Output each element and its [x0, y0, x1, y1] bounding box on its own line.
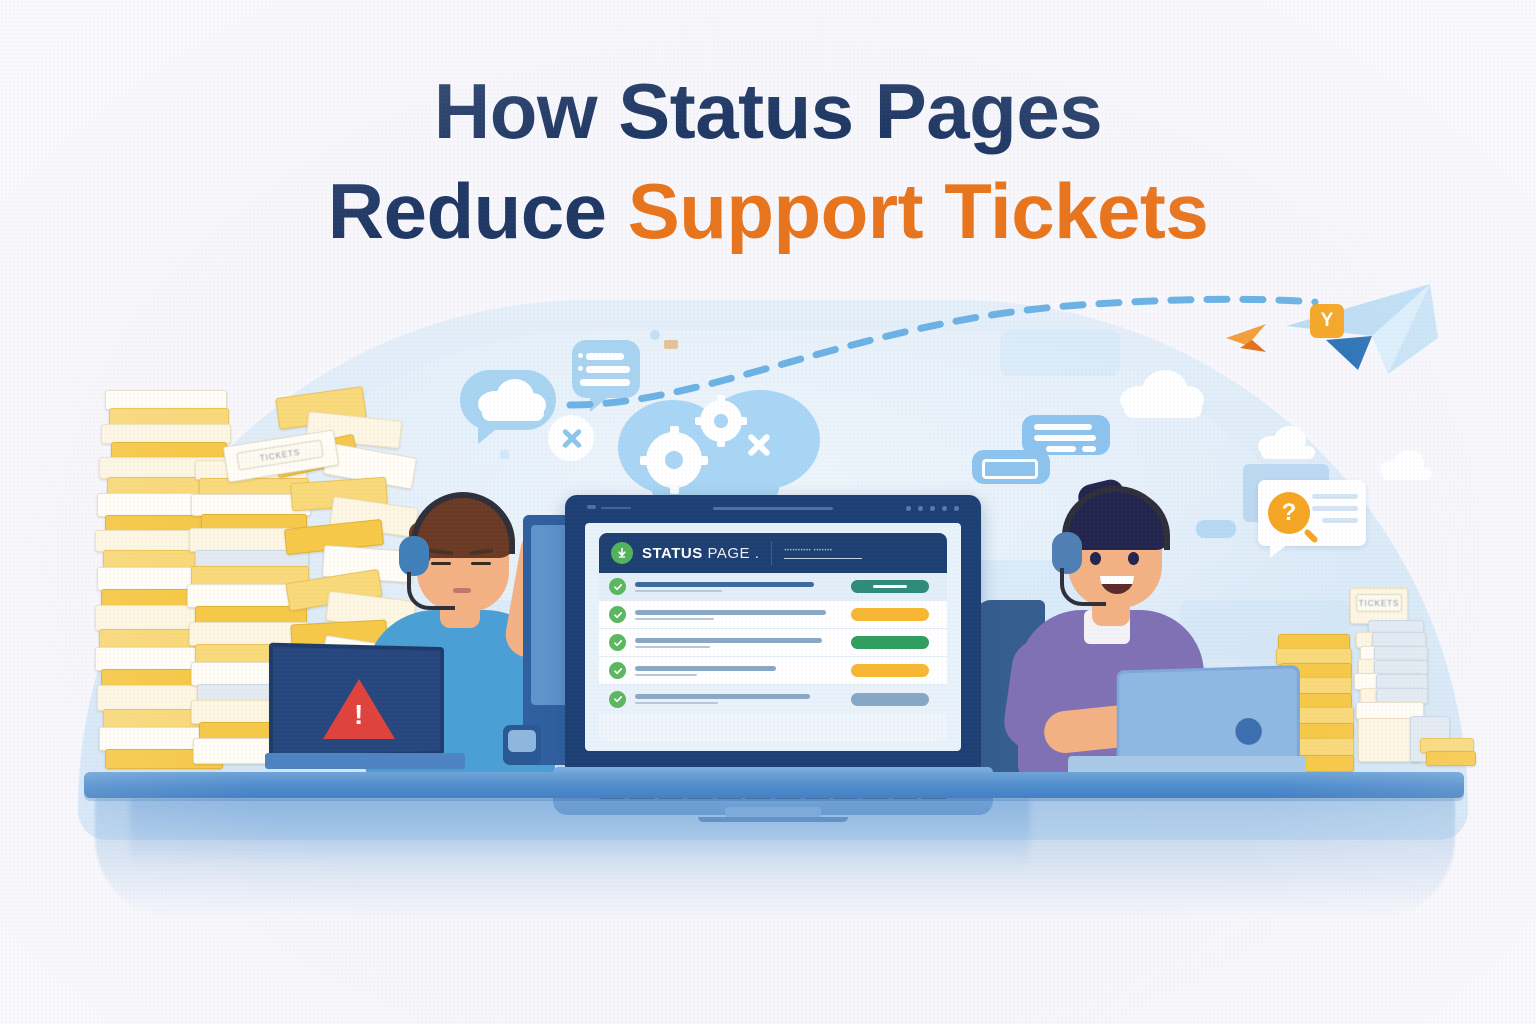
status-row-title-bar	[635, 582, 814, 587]
status-page-meta: •••••••••• •••••••	[784, 548, 935, 559]
bezel-mark-left	[587, 505, 596, 509]
status-row[interactable]	[599, 573, 947, 601]
status-badge	[851, 636, 929, 649]
magnifier-question-icon: ?	[1268, 492, 1310, 534]
gear-icon-large	[646, 432, 702, 488]
status-page-header: STATUS PAGE . •••••••••• •••••••	[599, 533, 947, 573]
left-laptop-base	[265, 753, 465, 769]
status-row-text	[635, 638, 843, 648]
right-laptop-logo	[1235, 718, 1261, 745]
check-circle-icon	[609, 662, 626, 679]
status-row-sub-bar	[635, 674, 697, 676]
ticket-sheet	[1426, 751, 1476, 766]
status-badge	[851, 664, 929, 677]
faq-line-3	[1322, 518, 1358, 523]
status-row-pill-cell	[843, 608, 937, 621]
chat-line-4	[1082, 446, 1096, 452]
paper-plane-badge: Y	[1310, 304, 1344, 338]
status-row-title-bar	[635, 666, 776, 671]
bezel-dot	[918, 506, 923, 511]
chat-line-2	[1034, 435, 1096, 441]
agent-right-eye-left	[1090, 552, 1101, 565]
status-badge	[851, 608, 929, 621]
status-row-title-bar	[635, 638, 822, 643]
chat-bubble-top	[1022, 415, 1110, 455]
desk-surface	[84, 772, 1464, 798]
status-row[interactable]	[599, 629, 947, 657]
bezel-dot	[954, 506, 959, 511]
agent-left-mouth	[453, 588, 471, 593]
status-row-pill-cell	[843, 693, 937, 706]
status-row[interactable]	[599, 685, 947, 713]
x-mark-icon-2	[745, 432, 771, 458]
status-row-text	[635, 610, 843, 620]
right-agent-laptop	[1068, 668, 1306, 786]
check-circle-icon	[609, 691, 626, 708]
status-row-sub-bar	[635, 702, 718, 704]
status-page-meta-text: •••••••••• •••••••	[784, 548, 935, 554]
title-line-2-accent: Support Tickets	[628, 167, 1209, 255]
left-agent-laptop	[265, 645, 465, 780]
bezel-dot-row	[906, 506, 959, 511]
x-mark-icon	[560, 427, 582, 449]
paper-plane-icon	[1280, 278, 1440, 388]
desk-accessory	[503, 725, 541, 765]
status-row-sub-bar	[635, 646, 710, 648]
laptop-bezel	[565, 495, 981, 521]
status-row-sub-bar	[635, 618, 714, 620]
faq-line-1	[1312, 494, 1358, 499]
mini-plane-icon	[1222, 318, 1282, 358]
status-row-pill-cell	[843, 636, 937, 649]
status-row-pill-cell	[843, 664, 937, 677]
agent-left-eye-left	[431, 562, 451, 565]
chat-line-1	[1034, 424, 1092, 430]
title-line-2-plain: Reduce	[328, 167, 628, 255]
illustration-canvas: How Status Pages Reduce Support Tickets	[0, 0, 1536, 1024]
check-circle-icon	[609, 578, 626, 595]
status-page-brand-bold: STATUS	[642, 545, 703, 562]
paper-plane-badge-glyph: Y	[1321, 310, 1334, 332]
laptop-screen: STATUS PAGE . •••••••••• •••••••	[585, 523, 961, 751]
desk-accessory-top	[508, 730, 536, 752]
status-page-brand: STATUS PAGE .	[642, 545, 759, 562]
dashed-arc-path	[560, 280, 1320, 410]
status-row-title-bar	[635, 694, 810, 699]
laptop-lid: STATUS PAGE . •••••••••• •••••••	[565, 495, 981, 770]
page-title: How Status Pages Reduce Support Tickets	[0, 72, 1536, 250]
status-row-title-bar	[635, 610, 826, 615]
bezel-center-line	[713, 507, 833, 510]
status-page-divider	[771, 541, 772, 565]
bezel-dot	[942, 506, 947, 511]
status-badge	[851, 580, 929, 593]
desk-reflection-highlight	[130, 798, 1030, 868]
bezel-line-left	[601, 507, 631, 509]
check-circle-icon	[609, 606, 626, 623]
agent-left-headset-mic	[407, 572, 455, 610]
status-page-meta-underline	[784, 558, 862, 559]
status-badge	[851, 693, 929, 706]
download-circle-icon	[611, 542, 633, 564]
chat-line-3	[1046, 446, 1076, 452]
bezel-dot	[930, 506, 935, 511]
ticket-paper-pile: TICKETS	[1330, 588, 1490, 778]
status-row-pill-cell	[843, 580, 937, 593]
faq-glyph: ?	[1282, 499, 1297, 527]
bezel-dot	[906, 506, 911, 511]
sparkle-3	[500, 450, 509, 459]
status-row[interactable]	[599, 657, 947, 685]
status-row-sub-bar	[635, 590, 722, 592]
agent-right-headset-mic	[1060, 568, 1106, 606]
ticket-box-label: TICKETS	[1356, 594, 1402, 612]
status-page-rows	[599, 573, 947, 741]
right-laptop-screen	[1117, 665, 1300, 767]
status-page-brand-light: PAGE .	[707, 545, 759, 562]
agent-right-eye-right	[1128, 552, 1139, 565]
title-line-1: How Status Pages	[0, 72, 1536, 150]
envelope	[105, 390, 227, 410]
check-circle-icon	[609, 634, 626, 651]
status-row-text	[635, 666, 843, 676]
agent-left-eye-right	[471, 562, 491, 565]
status-row[interactable]	[599, 601, 947, 629]
faq-line-2	[1312, 506, 1358, 511]
status-row-text	[635, 694, 843, 704]
agent-left-headset-earcup	[399, 536, 429, 576]
warning-triangle-icon	[323, 679, 395, 739]
status-row-text	[635, 582, 843, 592]
title-line-2: Reduce Support Tickets	[0, 172, 1536, 250]
envelope	[101, 424, 231, 444]
